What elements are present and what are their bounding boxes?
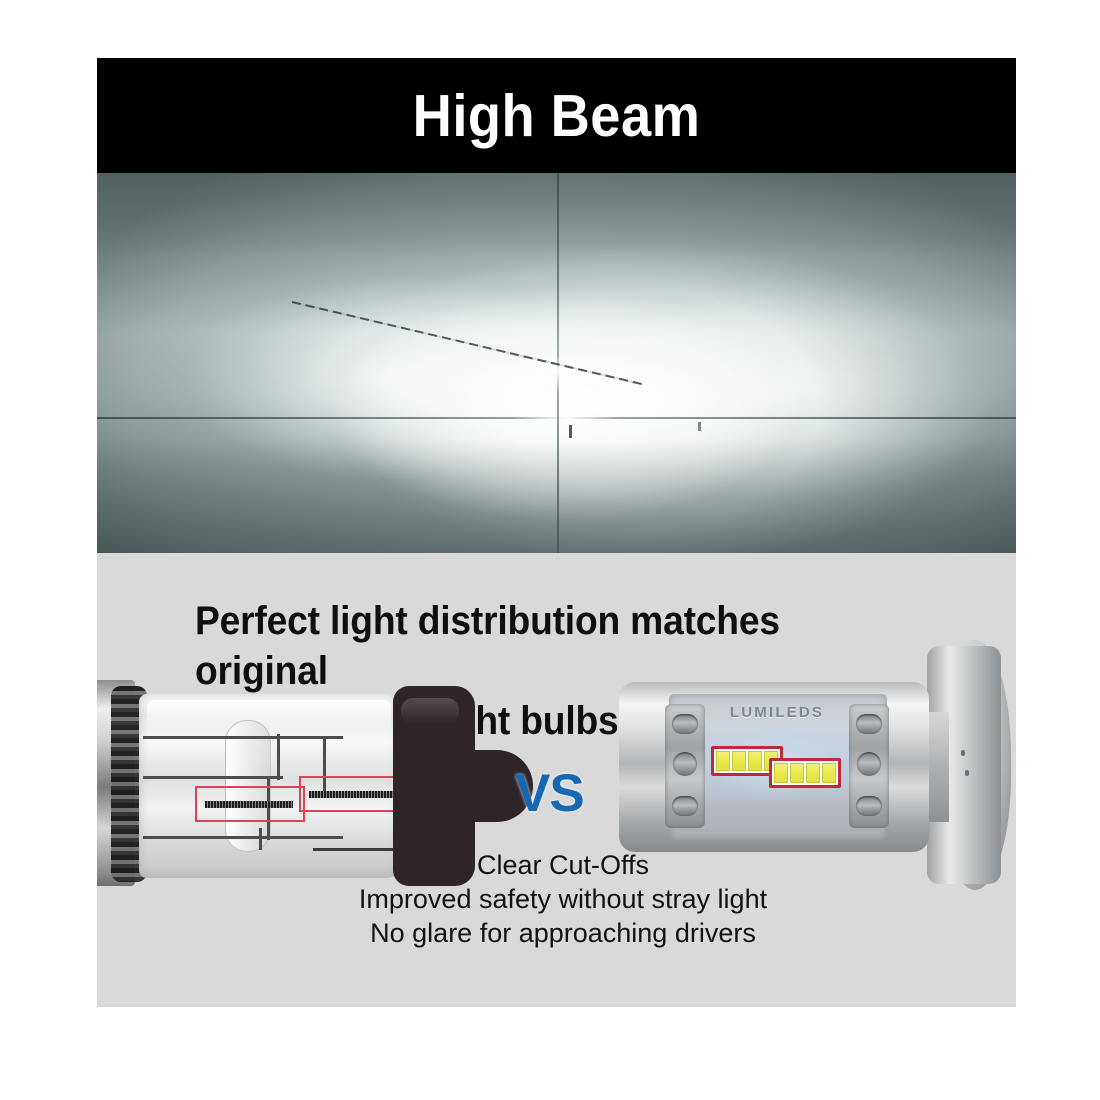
halogen-lead-wire-2: [143, 776, 283, 779]
wall-marker-2: [698, 422, 701, 431]
led-chip-array-2: [769, 758, 841, 788]
halogen-lead-wire-4: [277, 734, 280, 780]
led-chip: [806, 763, 820, 783]
led-chip: [716, 751, 730, 771]
halogen-lead-wire-7: [259, 828, 262, 850]
led-chip: [822, 763, 836, 783]
crosshair-horizontal-line: [97, 417, 1016, 419]
led-brand-label: LUMILEDS: [697, 704, 857, 721]
title-bar: High Beam: [97, 58, 1016, 173]
led-chip-group-2: [774, 763, 836, 783]
caption-line-1: Clear Cut-Offs: [243, 848, 883, 882]
led-chip: [748, 751, 762, 771]
bracket-hole-round-right: [857, 752, 881, 776]
led-flange-vent-2: [965, 770, 969, 776]
led-flange-vent-1: [961, 750, 965, 756]
bracket-hole-oval-bottom-left: [672, 796, 698, 816]
bracket-hole-oval-top-left: [672, 714, 698, 734]
caption-line-3: No glare for approaching drivers: [243, 916, 883, 950]
led-bracket-pad-right: [849, 704, 889, 828]
beam-pattern-photo: [97, 173, 1016, 553]
halogen-tip-highlight: [401, 698, 459, 724]
bracket-hole-oval-top-right: [856, 714, 882, 734]
halogen-lead-wire-1: [143, 736, 343, 739]
product-infographic-page: High Beam Perfect light distribution mat…: [0, 0, 1100, 1100]
led-bracket-pad-left: [665, 704, 705, 828]
halogen-glass-highlight: [147, 700, 391, 730]
vs-label: VS: [515, 763, 584, 824]
caption-block: Clear Cut-Offs Improved safety without s…: [243, 848, 883, 950]
led-chip: [790, 763, 804, 783]
wall-marker-1: [569, 425, 572, 438]
led-chip: [774, 763, 788, 783]
page-title: High Beam: [134, 58, 979, 173]
bracket-hole-round-left: [673, 752, 697, 776]
caption-line-2: Improved safety without stray light: [243, 882, 883, 916]
filament-marker-box-2: [299, 776, 407, 812]
filament-marker-box-1: [195, 786, 305, 822]
led-chip: [732, 751, 746, 771]
infographic-panel: High Beam Perfect light distribution mat…: [97, 58, 1016, 1007]
bracket-hole-oval-bottom-right: [856, 796, 882, 816]
